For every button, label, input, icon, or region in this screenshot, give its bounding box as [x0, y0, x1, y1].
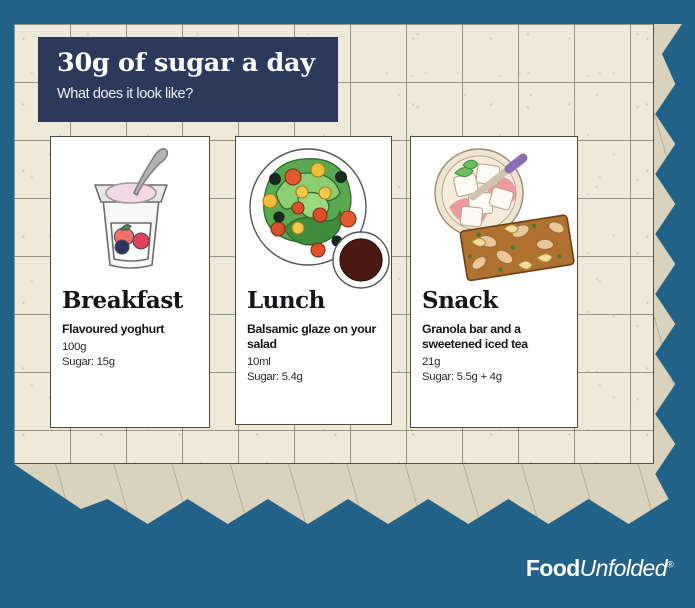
- card-text-block: Snack Granola bar and a sweetened iced t…: [411, 289, 577, 385]
- sugar-content: Sugar: 5.5g + 4g: [422, 370, 566, 385]
- serving-amount: 21g: [422, 355, 566, 370]
- meal-label: Lunch: [247, 289, 380, 312]
- food-item-name: Granola bar and a sweetened iced tea: [422, 322, 566, 352]
- brand-logo[interactable]: FoodUnfolded®: [526, 555, 673, 582]
- food-item-name: Flavoured yoghurt: [62, 322, 198, 337]
- card-text-block: Lunch Balsamic glaze on your salad 10ml …: [236, 289, 391, 385]
- meal-card-lunch[interactable]: Lunch Balsamic glaze on your salad 10ml …: [235, 136, 392, 425]
- card-text-block: Breakfast Flavoured yoghurt 100g Sugar: …: [51, 289, 209, 370]
- title-panel: 30g of sugar a day What does it look lik…: [38, 37, 338, 122]
- registered-trademark-icon: ®: [667, 559, 673, 569]
- meal-card-breakfast[interactable]: Breakfast Flavoured yoghurt 100g Sugar: …: [50, 136, 210, 428]
- meal-card-snack[interactable]: Snack Granola bar and a sweetened iced t…: [410, 136, 578, 428]
- serving-amount: 100g: [62, 340, 198, 355]
- logo-word-food: Food: [526, 555, 580, 581]
- infographic-canvas: 30g of sugar a day What does it look lik…: [0, 0, 695, 608]
- page-title: 30g of sugar a day: [57, 49, 338, 77]
- meal-label: Breakfast: [62, 289, 198, 312]
- logo-word-unfolded: Unfolded: [580, 555, 667, 581]
- meal-label: Snack: [422, 289, 566, 312]
- serving-amount: 10ml: [247, 355, 380, 370]
- sugar-content: Sugar: 5.4g: [247, 370, 380, 385]
- granola-bar-and-iced-tea-icon: [411, 137, 577, 289]
- yoghurt-pot-with-spoon-icon: [51, 137, 209, 289]
- page-subtitle: What does it look like?: [57, 86, 338, 102]
- salad-bowl-with-dressing-icon: [236, 137, 391, 289]
- sugar-content: Sugar: 15g: [62, 355, 198, 370]
- food-item-name: Balsamic glaze on your salad: [247, 322, 380, 352]
